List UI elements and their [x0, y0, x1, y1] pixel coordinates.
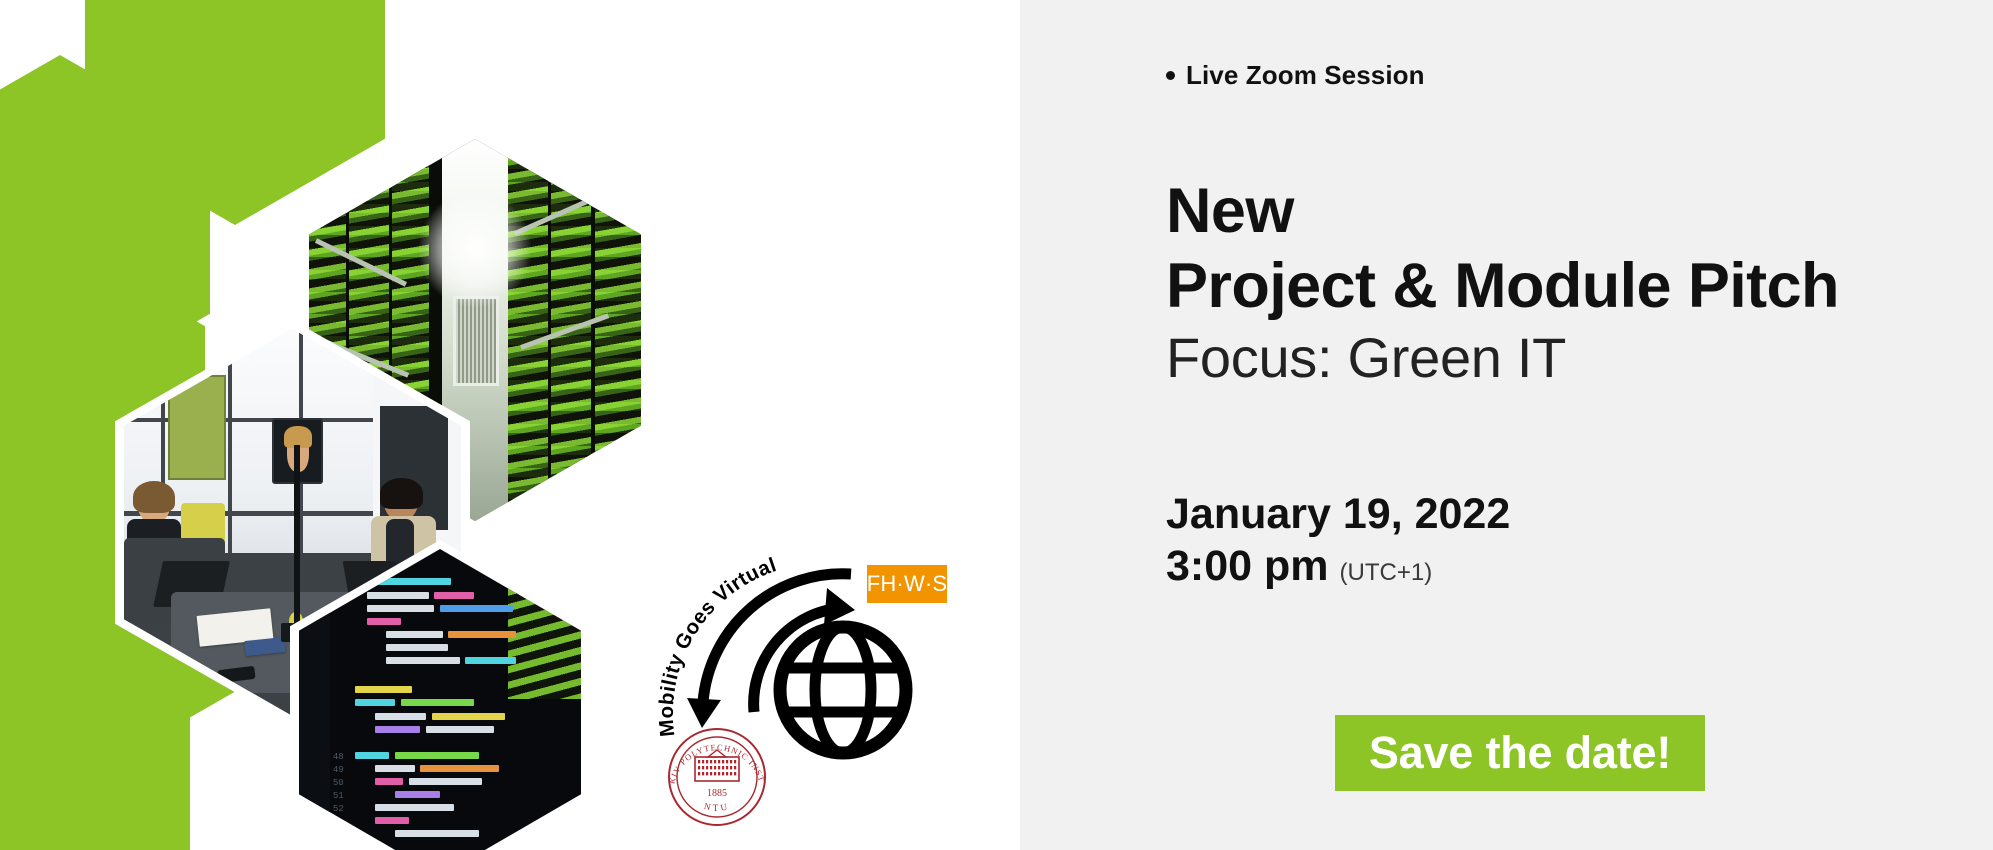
- background-plants: [508, 549, 581, 699]
- code-token: [432, 713, 505, 720]
- event-info-panel: Live Zoom Session New Project & Module P…: [1020, 0, 1993, 850]
- code-token: [375, 713, 426, 720]
- code-token: [367, 618, 401, 625]
- code-token: [375, 804, 454, 811]
- code-token: [440, 605, 513, 612]
- event-date: January 19, 2022: [1166, 490, 1510, 538]
- code-token: [386, 631, 442, 638]
- code-token: [426, 726, 494, 733]
- save-the-date-banner: 48 49 50 51 52: [0, 0, 1993, 850]
- event-time-row: 3:00 pm (UTC+1): [1166, 542, 1510, 590]
- code-token: [434, 592, 473, 599]
- code-line-number: 50: [333, 778, 344, 788]
- kharkiv-polytechnic-seal: KHARKIV POLYTECHNIC INSTITUTE NTU: [667, 729, 766, 825]
- mobility-goes-virtual-logo: Mobility Goes Virtual: [655, 530, 975, 840]
- globe-icon: [780, 627, 906, 753]
- event-datetime: January 19, 2022 3:00 pm (UTC+1): [1166, 490, 1510, 590]
- code-token: [420, 765, 499, 772]
- code-token: [401, 699, 474, 706]
- title-line-2: Project & Module Pitch: [1166, 255, 1839, 318]
- farm-rack: [595, 139, 641, 521]
- code-token: [355, 699, 394, 706]
- code-token: [395, 791, 440, 798]
- code-token: [375, 765, 414, 772]
- code-token: [395, 752, 480, 759]
- code-token: [375, 726, 420, 733]
- code-token: [355, 686, 411, 693]
- bullet-icon: [1166, 71, 1175, 80]
- code-token: [355, 752, 389, 759]
- save-the-date-button[interactable]: Save the date!: [1335, 715, 1705, 791]
- code-token: [448, 631, 516, 638]
- curved-arrow-up-icon: [754, 588, 855, 712]
- seal-year: 1885: [707, 788, 727, 799]
- wall-cabinet: [168, 375, 226, 480]
- code-line-number: 52: [333, 804, 344, 814]
- save-the-date-label: Save the date!: [1369, 727, 1671, 779]
- code-token: [375, 778, 403, 785]
- title-line-1: New: [1166, 180, 1839, 243]
- page-title: New Project & Module Pitch Focus: Green …: [1166, 180, 1839, 386]
- farm-grow-light-glow: [419, 192, 532, 307]
- code-token: [386, 644, 448, 651]
- code-line-number: 48: [333, 752, 344, 762]
- event-subtitle: Focus: Green IT: [1166, 330, 1839, 386]
- event-kicker-label: Live Zoom Session: [1186, 60, 1425, 90]
- code-token: [386, 657, 459, 664]
- code-token: [367, 605, 435, 612]
- code-line-number: 49: [333, 765, 344, 775]
- person-hair: [133, 481, 175, 513]
- farm-vent: [453, 296, 499, 386]
- code-line-number: 51: [333, 791, 344, 801]
- telepresence-robot-pole: [294, 445, 299, 631]
- code-token: [367, 578, 452, 585]
- code-token: [465, 657, 516, 664]
- event-timezone: (UTC+1): [1340, 559, 1433, 587]
- code-token: [395, 830, 480, 837]
- code-token: [375, 817, 409, 824]
- fhws-badge-label: FH·W·S: [867, 571, 948, 597]
- seal-bottom-text: NTU: [703, 801, 731, 813]
- code-token: [367, 592, 429, 599]
- event-time: 3:00 pm: [1166, 542, 1329, 590]
- person-hair: [380, 478, 424, 509]
- visual-collage-panel: 48 49 50 51 52: [0, 0, 1020, 850]
- window-mullion: [228, 329, 232, 553]
- code-token: [409, 778, 482, 785]
- fhws-badge: FH·W·S: [867, 565, 947, 603]
- event-kicker: Live Zoom Session: [1166, 60, 1425, 91]
